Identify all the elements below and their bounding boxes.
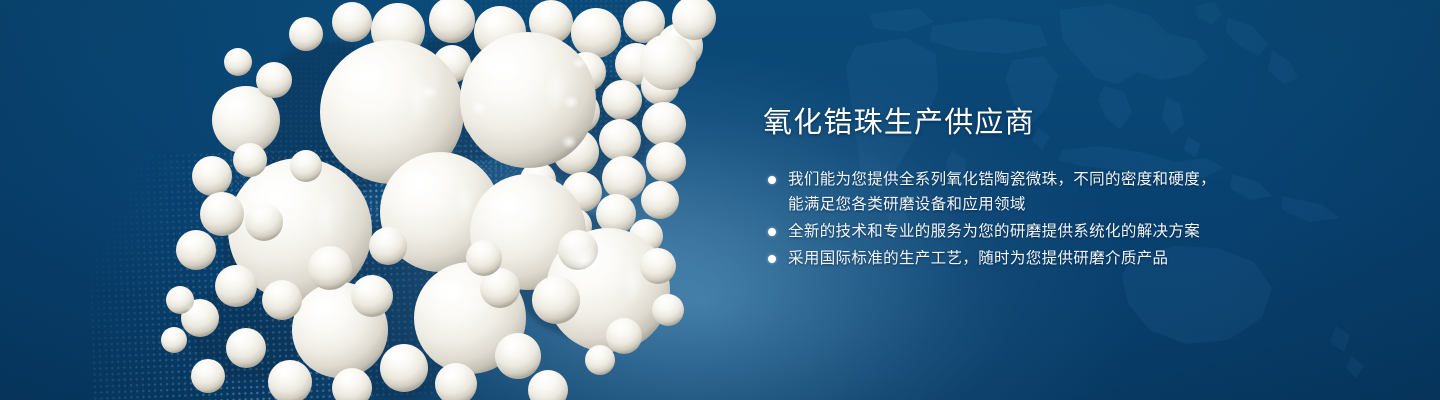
feature-list: 我们能为您提供全系列氧化锆陶瓷微珠，不同的密度和硬度， 能满足您各类研磨设备和应…: [763, 167, 1233, 271]
bullet-text-line-1: 采用国际标准的生产工艺，随时为您提供研磨介质产品: [788, 250, 1168, 267]
bullet-text-line-2: 能满足您各类研磨设备和应用领域: [788, 192, 1233, 217]
list-item: 采用国际标准的生产工艺，随时为您提供研磨介质产品: [763, 246, 1233, 271]
bullet-dot-icon: [768, 228, 776, 236]
bullet-text-line-1: 我们能为您提供全系列氧化锆陶瓷微珠，不同的密度和硬度，: [788, 171, 1216, 188]
list-item: 我们能为您提供全系列氧化锆陶瓷微珠，不同的密度和硬度， 能满足您各类研磨设备和应…: [763, 167, 1233, 217]
bullet-text-line-1: 全新的技术和专业的服务为您的研磨提供系统化的解决方案: [788, 223, 1200, 240]
list-item: 全新的技术和专业的服务为您的研磨提供系统化的解决方案: [763, 219, 1233, 244]
bullet-dot-icon: [768, 255, 776, 263]
page-title: 氧化锆珠生产供应商: [763, 104, 1233, 142]
banner-copy: 氧化锆珠生产供应商 我们能为您提供全系列氧化锆陶瓷微珠，不同的密度和硬度， 能满…: [763, 104, 1233, 273]
bullet-dot-icon: [768, 176, 776, 184]
hero-banner: 氧化锆珠生产供应商 我们能为您提供全系列氧化锆陶瓷微珠，不同的密度和硬度， 能满…: [0, 0, 1440, 400]
